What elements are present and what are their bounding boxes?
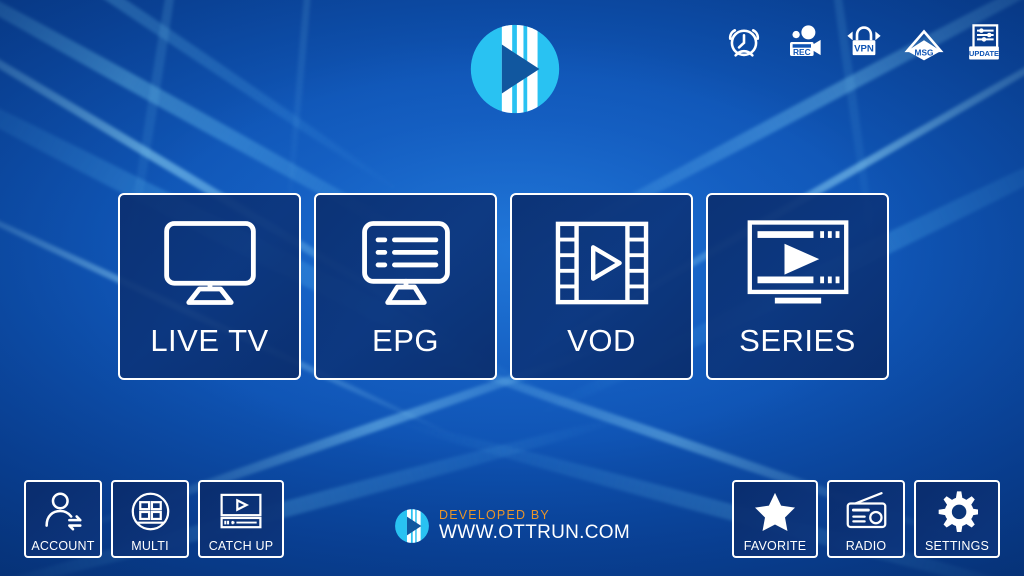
tile-live-tv[interactable]: LIVE TV <box>118 193 301 380</box>
button-multi[interactable]: MULTI <box>111 480 189 558</box>
svg-text:MSG: MSG <box>915 48 934 58</box>
developer-credit: DEVELOPED BY WWW.OTTRUN.COM <box>394 508 630 544</box>
film-strip-play-icon <box>553 217 651 309</box>
play-circle-logo-icon <box>468 22 562 116</box>
epg-list-monitor-icon <box>353 217 459 309</box>
multiscreen-grid-icon <box>130 490 171 532</box>
star-icon <box>754 490 796 532</box>
developer-url: WWW.OTTRUN.COM <box>439 523 630 543</box>
gear-icon <box>936 490 978 532</box>
play-circle-logo-icon <box>394 508 430 544</box>
tile-label: EPG <box>316 325 495 356</box>
tile-label: LIVE TV <box>120 325 299 356</box>
rec-camera-icon[interactable]: REC <box>778 16 830 68</box>
button-label: SETTINGS <box>916 540 998 553</box>
radio-icon <box>844 490 889 532</box>
svg-text:VPN: VPN <box>854 44 874 55</box>
tile-vod[interactable]: VOD <box>510 193 693 380</box>
footer-right-group: FAVORITE RADIO <box>732 480 1000 558</box>
button-account[interactable]: ACCOUNT <box>24 480 102 558</box>
tile-epg[interactable]: EPG <box>314 193 497 380</box>
msg-envelope-icon[interactable]: MSG <box>898 16 950 68</box>
tile-label: SERIES <box>708 325 887 356</box>
series-screen-play-icon <box>744 217 852 309</box>
button-settings[interactable]: SETTINGS <box>914 480 1000 558</box>
developed-by-label: DEVELOPED BY <box>439 509 630 522</box>
tile-series[interactable]: SERIES <box>706 193 889 380</box>
footer-left-group: ACCOUNT MULTI <box>24 480 284 558</box>
svg-text:REC: REC <box>793 47 811 57</box>
button-label: ACCOUNT <box>26 540 100 553</box>
svg-text:UPDATE: UPDATE <box>969 49 999 58</box>
home-screen: REC VPN MSG <box>0 0 1024 576</box>
main-menu: LIVE TV EPG <box>118 193 889 380</box>
button-label: RADIO <box>829 540 903 553</box>
tile-label: VOD <box>512 325 691 356</box>
header-bar: REC VPN MSG <box>0 0 1024 130</box>
alarm-clock-icon[interactable] <box>718 16 770 68</box>
button-catch-up[interactable]: CATCH UP <box>198 480 284 558</box>
button-label: CATCH UP <box>200 540 282 553</box>
button-favorite[interactable]: FAVORITE <box>732 480 818 558</box>
tv-monitor-icon <box>157 217 263 309</box>
button-label: MULTI <box>113 540 187 553</box>
user-account-icon <box>41 490 85 532</box>
status-icon-group: REC VPN MSG <box>718 16 1010 68</box>
button-label: FAVORITE <box>734 540 816 553</box>
catchup-replay-icon <box>217 490 265 532</box>
vpn-lock-icon[interactable]: VPN <box>838 16 890 68</box>
button-radio[interactable]: RADIO <box>827 480 905 558</box>
update-document-icon[interactable]: UPDATE <box>958 16 1010 68</box>
